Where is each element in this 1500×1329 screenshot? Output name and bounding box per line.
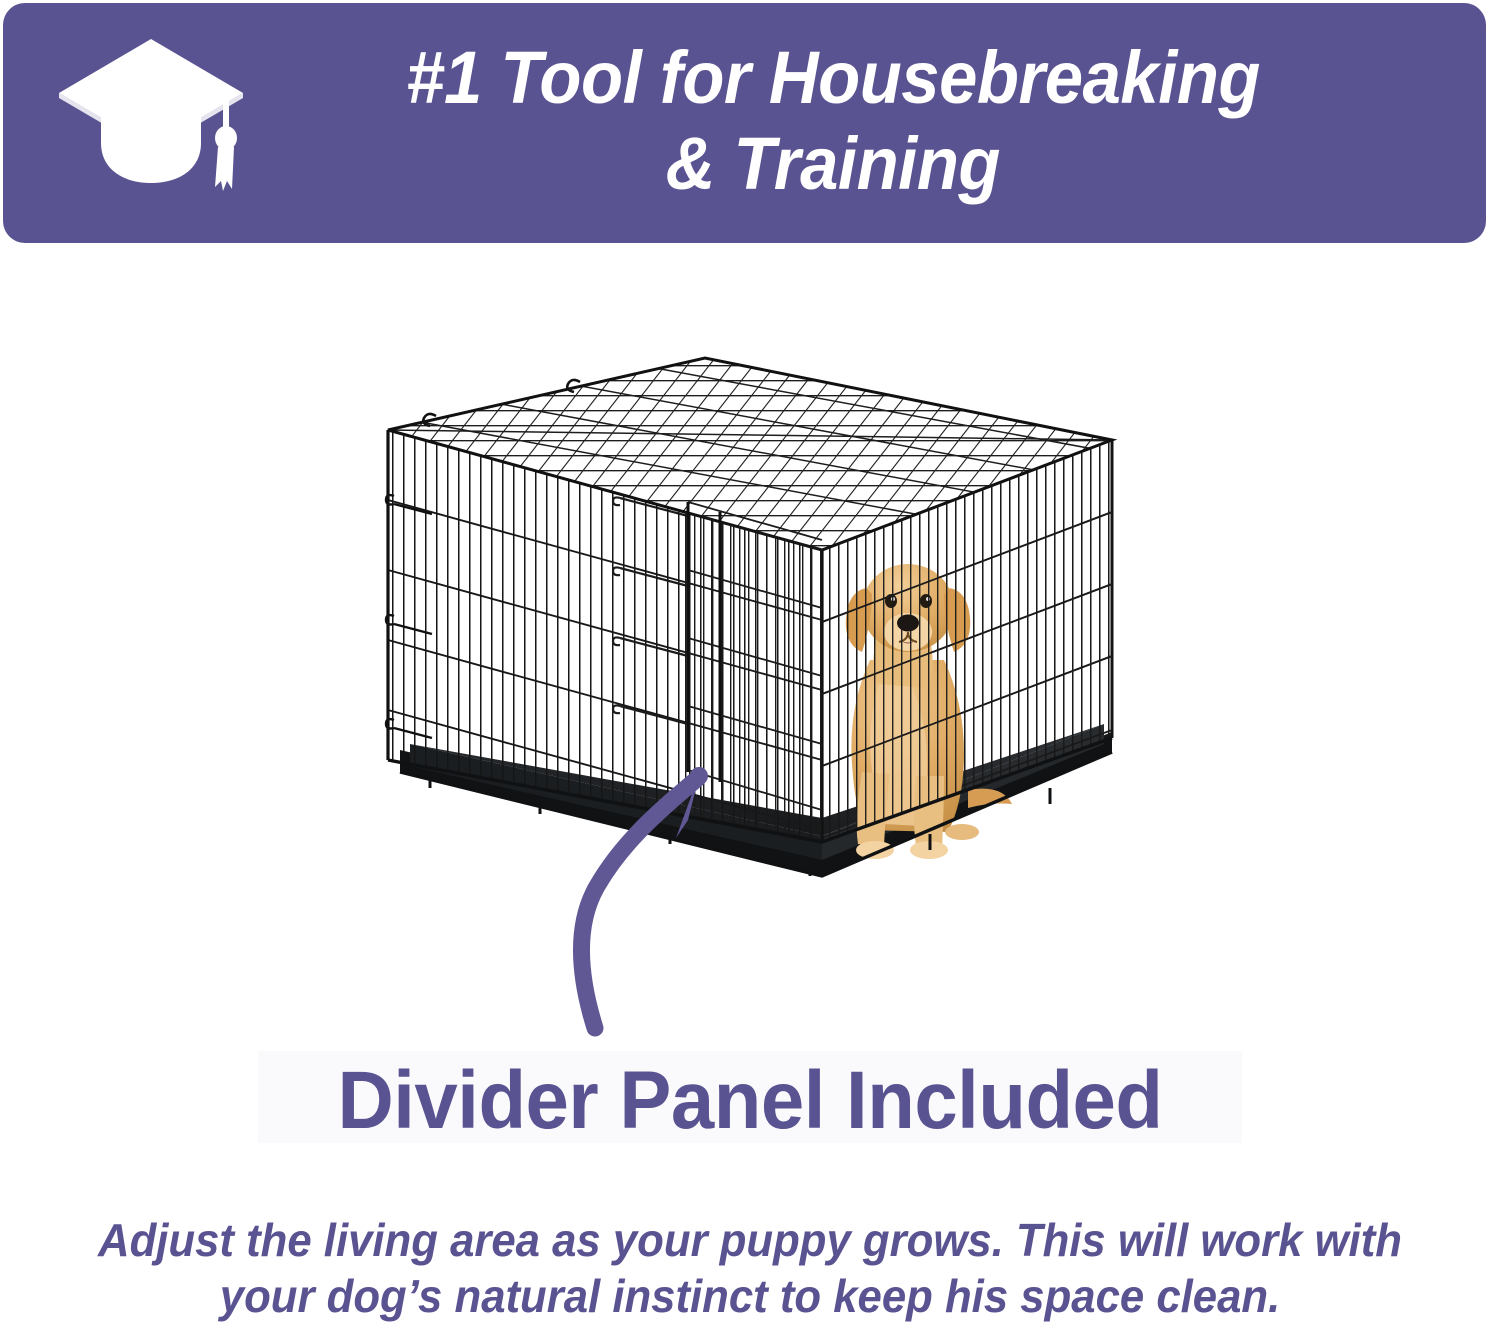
footer-headline: Divider Panel Included bbox=[38, 1055, 1463, 1147]
product-infographic: #1 Tool for Housebreaking & Training bbox=[0, 0, 1500, 1329]
footer-body-line1: Adjust the living area as your puppy gro… bbox=[85, 1212, 1415, 1268]
footer-body-copy: Adjust the living area as your puppy gro… bbox=[85, 1212, 1415, 1324]
product-photo bbox=[370, 320, 1130, 940]
banner-text-block: #1 Tool for Housebreaking & Training bbox=[268, 3, 1398, 243]
banner-headline-line1: #1 Tool for Housebreaking bbox=[406, 35, 1260, 121]
footer-body-line2: your dog’s natural instinct to keep his … bbox=[85, 1268, 1415, 1324]
graduation-cap-icon bbox=[55, 31, 270, 216]
header-banner: #1 Tool for Housebreaking & Training bbox=[3, 3, 1486, 243]
banner-headline-line2: & Training bbox=[666, 121, 1000, 207]
